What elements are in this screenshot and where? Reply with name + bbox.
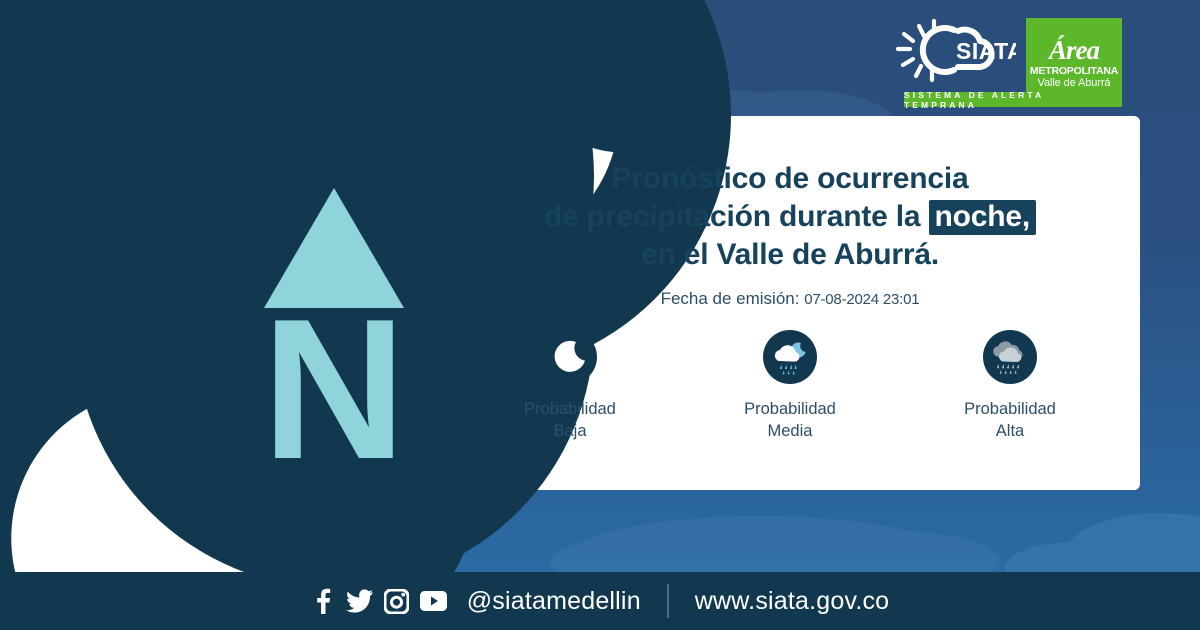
facebook-icon[interactable] (311, 588, 335, 614)
title-line-3: en el Valle de Aburrá. (460, 236, 1120, 274)
legend-label-alta: Probabilidad Alta (910, 398, 1110, 443)
siata-wordmark: SIATA (956, 38, 1016, 64)
north-arrow-icon: N (74, 68, 594, 588)
issue-date-value: 07-08-2024 23:01 (804, 291, 919, 308)
website-url[interactable]: www.siata.gov.co (695, 587, 889, 616)
infographic-canvas: N Pronóstico de ocurrencia de precipitac… (0, 0, 1200, 630)
title-line-1: Pronóstico de ocurrencia (460, 160, 1120, 198)
issue-date-label: Fecha de emisión: (661, 289, 800, 308)
footer-divider (667, 584, 669, 618)
area-wordmark: Área (1049, 37, 1099, 64)
tagline-text: SISTEMA DE ALERTA TEMPRANA (904, 90, 1122, 110)
title-highlight-noche: noche, (929, 200, 1036, 236)
youtube-icon[interactable] (420, 591, 447, 611)
cloud-heavy-rain-icon (983, 330, 1037, 384)
instagram-icon[interactable] (384, 589, 409, 614)
tagline-band: SISTEMA DE ALERTA TEMPRANA (904, 92, 1122, 107)
legend-icon-wrap (910, 330, 1110, 384)
legend-item-baja[interactable]: Probabilidad Baja (470, 330, 670, 443)
compass-label: N (262, 278, 406, 501)
legend-icon-wrap (690, 330, 890, 384)
legend-icon-wrap (470, 330, 670, 384)
compass-rose: N (74, 68, 594, 588)
valle-de-aburra-map: N (60, 50, 580, 570)
page-title: Pronóstico de ocurrencia de precipitació… (460, 160, 1120, 273)
title-line-2: de precipitación durante la noche, (460, 198, 1120, 236)
social-icons (311, 588, 447, 614)
area-line-2: Valle de Aburrá (1038, 77, 1111, 90)
area-line-1: METROPOLITANA (1030, 66, 1118, 78)
legend-label-baja: Probabilidad Baja (470, 398, 670, 443)
headline-block: Pronóstico de ocurrencia de precipitació… (460, 160, 1120, 309)
social-handle[interactable]: @siatamedellin (467, 587, 641, 616)
cloud-moon-rain-icon (763, 330, 817, 384)
issue-date: Fecha de emisión: 07-08-2024 23:01 (460, 289, 1120, 309)
siata-sun-cloud-icon: SIATA (894, 18, 1016, 90)
legend-label-media: Probabilidad Media (690, 398, 890, 443)
probability-legend: Probabilidad Baja (460, 330, 1120, 443)
twitter-icon[interactable] (346, 588, 373, 614)
moon-icon (543, 330, 597, 384)
area-metropolitana-logo: Área METROPOLITANA Valle de Aburrá (1026, 18, 1122, 94)
footer-bar: @siatamedellin www.siata.gov.co (0, 572, 1200, 630)
title-line-2-text: de precipitación durante la (544, 200, 929, 233)
siata-logo: SIATA (894, 18, 1016, 90)
legend-item-alta[interactable]: Probabilidad Alta (910, 330, 1110, 443)
brand-logos: SIATA Área METROPOLITANA Valle de Aburrá (894, 18, 1122, 94)
legend-item-media[interactable]: Probabilidad Media (690, 330, 890, 443)
